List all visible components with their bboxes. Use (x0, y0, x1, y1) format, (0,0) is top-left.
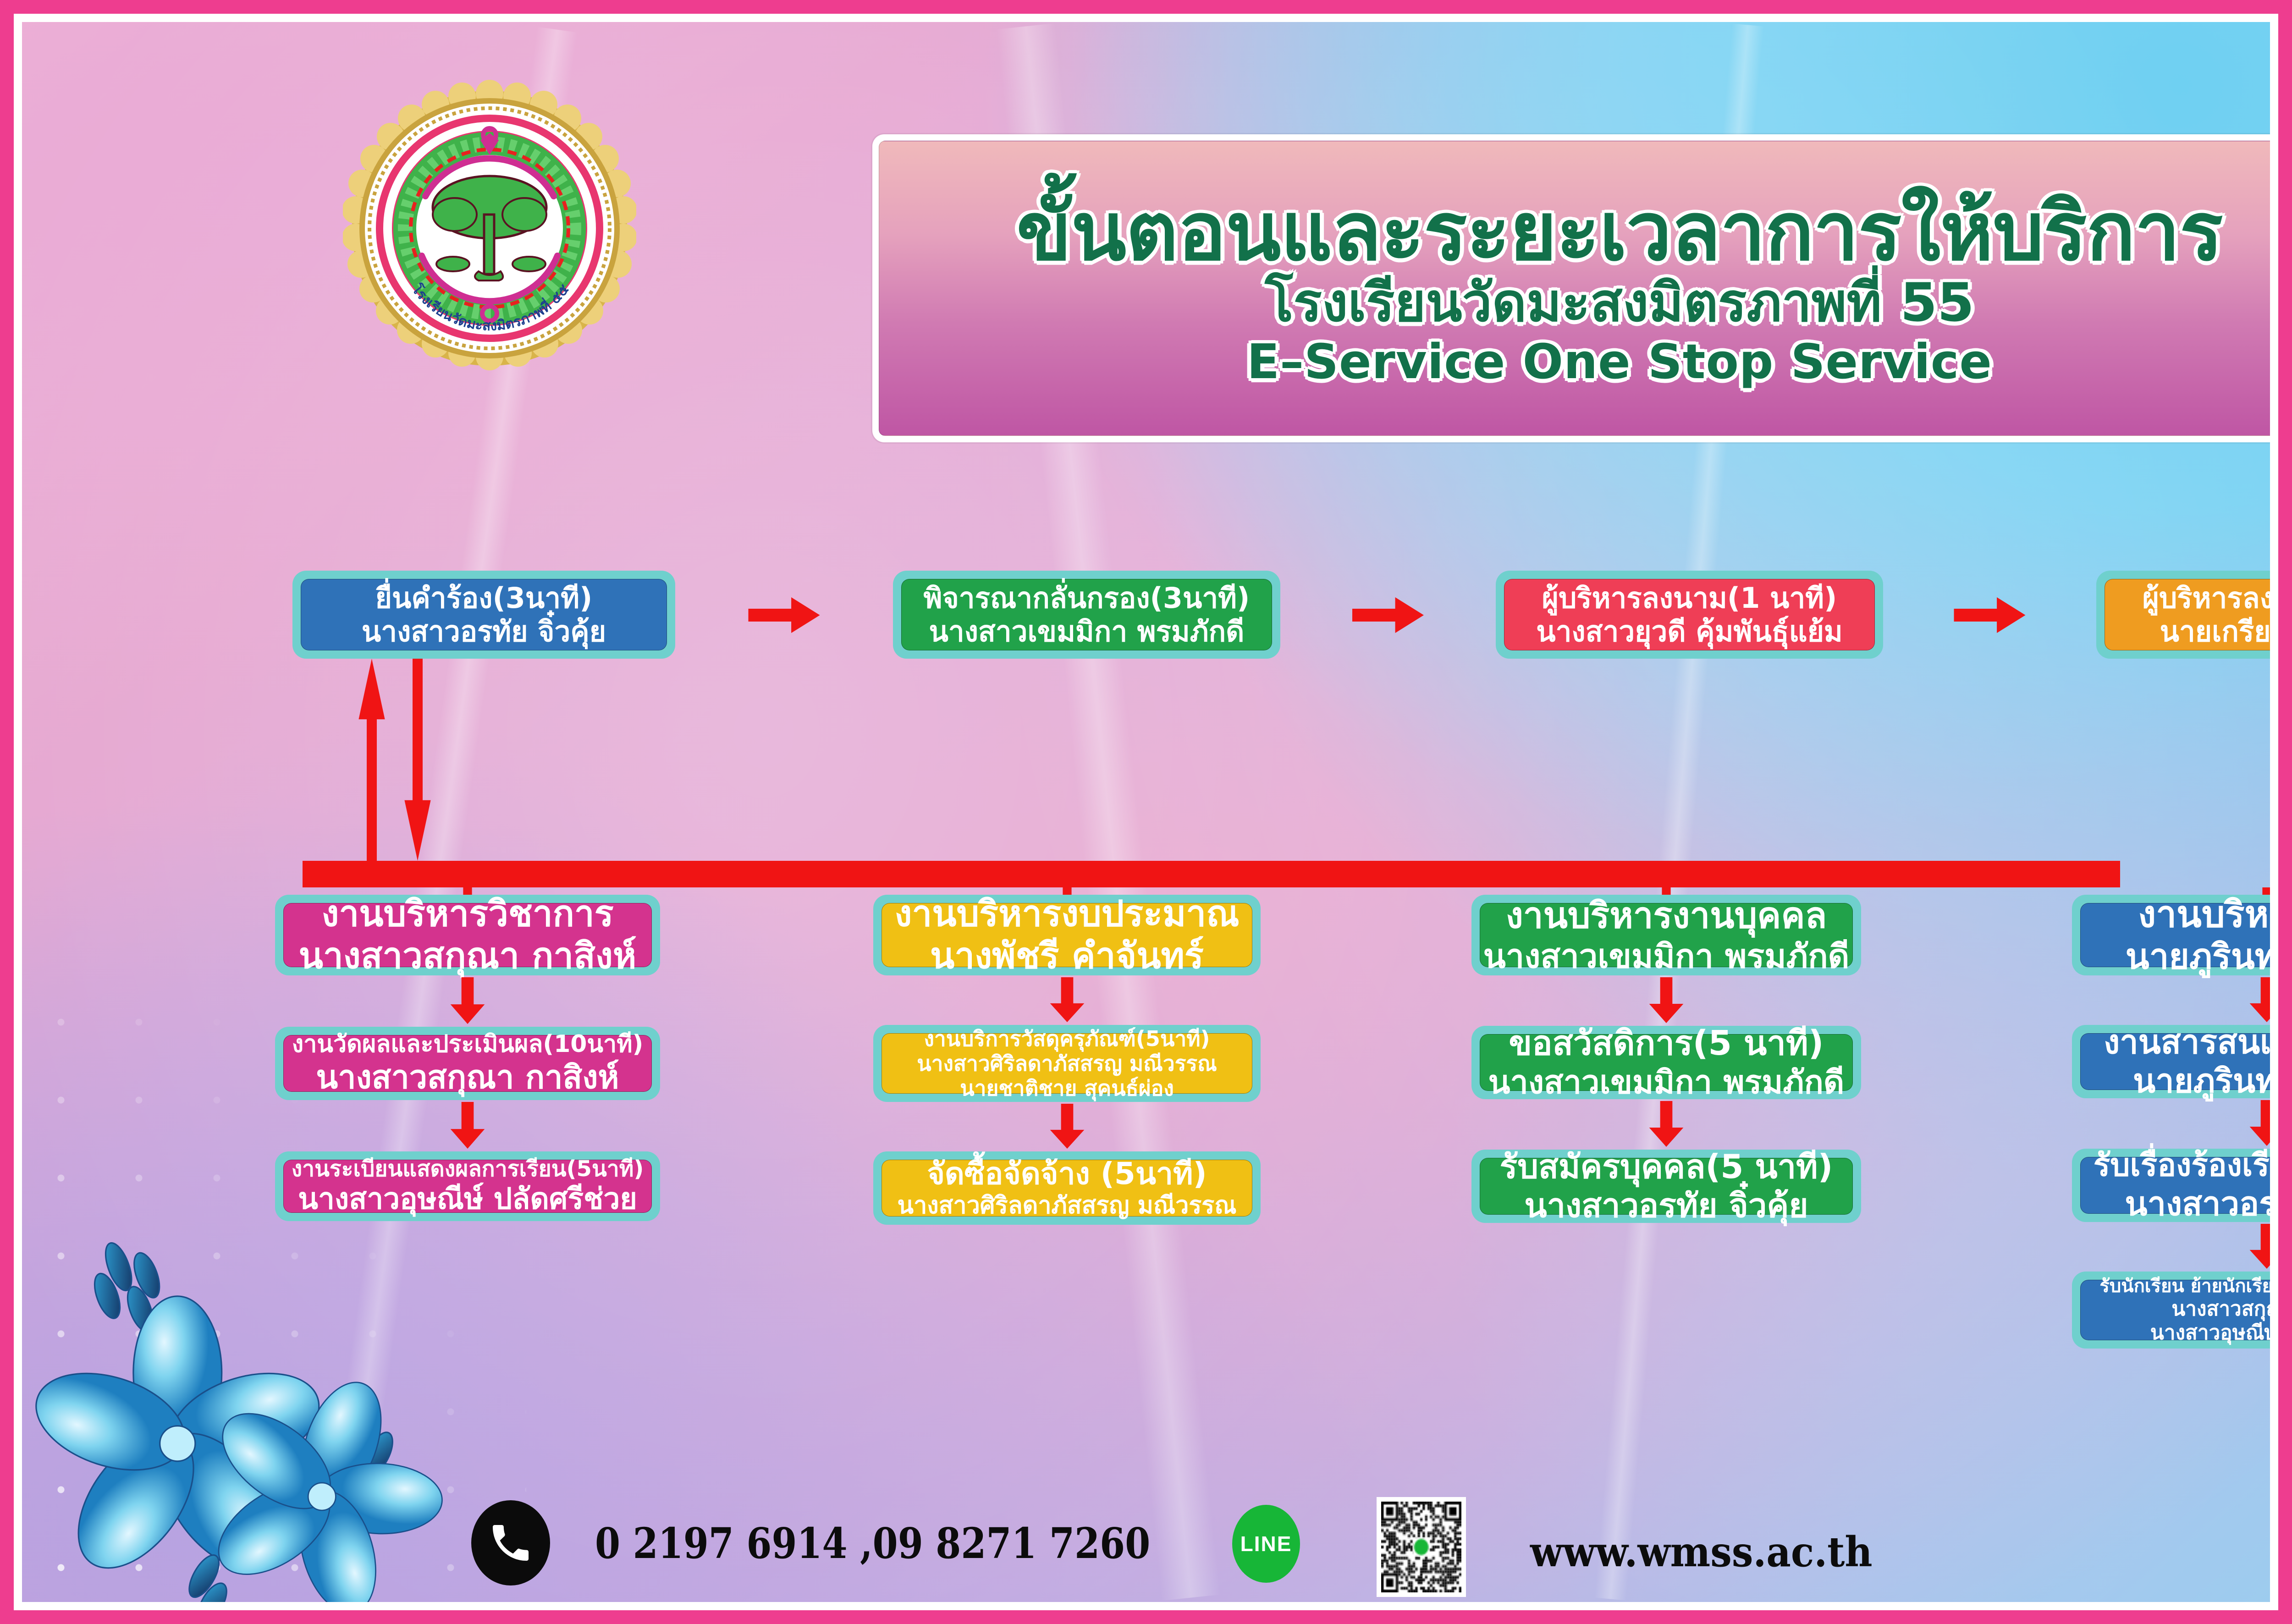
flow-arrow-down (1049, 1104, 1085, 1149)
box-text-line: นายภูรินทร์ พิงภูงา (2126, 936, 2270, 977)
column-academic-box-1[interactable]: งานบริหารวิชาการนางสาวสกุณา กาสิงห์ (275, 895, 660, 975)
column-general-box-1[interactable]: งานบริหารทั่วไปนายภูรินทร์ พิงภูงา (2072, 895, 2270, 975)
step-1-box[interactable]: ยื่นคำร้อง(3นาที)นางสาวอรทัย จิ๋วคุ้ย (292, 571, 675, 659)
school-seal-logo: โรงเรียนวัดมะสงมิตรภาพที่ ๕๕ (343, 77, 636, 380)
step-2-box[interactable]: พิจารณากลั่นกรอง(3นาที)นางสาวเขมมิกา พรม… (893, 571, 1280, 659)
flow-arrow-right (1289, 597, 1488, 633)
line-label: LINE (1240, 1531, 1292, 1556)
flow-arrow-down (402, 659, 433, 861)
box-text-line: รับนักเรียน ย้ายนักเรียนเข้า–ออก(10นาที) (2099, 1276, 2270, 1297)
box-text-line: พิจารณากลั่นกรอง(3นาที) (924, 581, 1250, 615)
banner-school-name: โรงเรียนวัดมะสงมิตรภาพที่ 55 (1265, 276, 1974, 330)
box-text-line: งานบริหารงบประมาณ (894, 893, 1239, 935)
box-text-line: งานวัดผลและประเมินผล(10นาที) (292, 1030, 643, 1058)
flow-arrow-down (1049, 977, 1085, 1022)
flow-arrow-down (1648, 977, 1685, 1023)
column-general-box-2[interactable]: งานสารสนเทศ(5นาที)นายภูรินทร์ พิงภูงา (2072, 1025, 2270, 1098)
poster-canvas: โรงเรียนวัดมะสงมิตรภาพที่ ๕๕ ขั้นตอนและร… (22, 22, 2270, 1602)
box-text-line: ขอสวัสดิการ(5 นาที) (1509, 1024, 1824, 1063)
column-budget-box-3[interactable]: จัดซื้อจัดจ้าง (5นาที)นางสาวศิริลดาภัสสร… (873, 1151, 1261, 1225)
column-academic-box-2[interactable]: งานวัดผลและประเมินผล(10นาที)นางสาวสกุณา … (275, 1027, 660, 1100)
column-general-box-3[interactable]: รับเรื่องร้องเรียน(10นาที)นางสาวอรทัย จิ… (2072, 1149, 2270, 1222)
flow-arrow-down (1648, 1101, 1685, 1147)
column-personnel-box-1[interactable]: งานบริหารงานบุคคลนางสาวเขมมิกา พรมภักดี (1471, 895, 1861, 975)
step-4-box[interactable]: ผู้บริหารลงนาม(1 นาที)นายเกรียงไกร รื่นเ… (2096, 571, 2270, 659)
flow-distribution-bar (303, 861, 2120, 887)
flow-arrow-right (1891, 597, 2088, 633)
box-text-line: รับเรื่องร้องเรียน(10นาที) (2094, 1147, 2270, 1184)
website-url: www.wmss.ac.th (1530, 1528, 1873, 1576)
box-text-line: งานระเบียนแสดงผลการเรียน(5นาที) (292, 1156, 644, 1182)
box-text-line: นางสาวศิริลดาภัสสรญ มณีวรรณ (917, 1051, 1217, 1076)
title-banner: ขั้นตอนและระยะเวลาการให้บริการ โรงเรียนว… (872, 134, 2270, 442)
banner-subtitle-english: E–Service One Stop Service (1247, 337, 1992, 386)
phone-icon (471, 1500, 550, 1585)
line-logo-icon: LINE (1232, 1505, 1300, 1583)
flow-arrow-down (449, 1102, 486, 1149)
box-text-line: นายเกรียงไกร รื่นเสือ (2160, 615, 2270, 648)
box-text-line: นางสาวเขมมิกา พรมภักดี (1488, 1063, 1845, 1101)
box-text-line: นางสาวอรทัย จิ๋วคุ้ย (1524, 1186, 1808, 1225)
column-budget-box-1[interactable]: งานบริหารงบประมาณนางพัชรี คำจันทร์ (873, 895, 1261, 975)
banner-title-thai: ขั้นตอนและระยะเวลาการให้บริการ (1016, 191, 2222, 273)
box-text-line: นางสาวศิริลดาภัสสรญ มณีวรรณ (898, 1192, 1237, 1220)
box-text-line: ยื่นคำร้อง(3นาที) (375, 581, 593, 615)
box-text-line: นายชาติชาย สุคนธ์ผ่อง (960, 1076, 1174, 1101)
box-text-line: งานบริการวัสดุครุภัณฑ์(5นาที) (924, 1026, 1210, 1051)
box-text-line: งานบริหารทั่วไป (2138, 893, 2270, 936)
box-text-line: นายภูรินทร์ พิงภูงา (2133, 1062, 2270, 1101)
poster-frame: โรงเรียนวัดมะสงมิตรภาพที่ ๕๕ ขั้นตอนและร… (0, 0, 2292, 1624)
column-personnel-box-2[interactable]: ขอสวัสดิการ(5 นาที)นางสาวเขมมิกา พรมภักด… (1471, 1026, 1861, 1099)
box-text-line: นางสาวอรทัย จิ๋วคุ้ย (2125, 1184, 2270, 1223)
box-text-line: รับสมัครบุคคล(5 นาที) (1500, 1147, 1833, 1186)
box-text-line: งานบริหารงานบุคคล (1506, 895, 1827, 937)
column-budget-box-2[interactable]: งานบริการวัสดุครุภัณฑ์(5นาที)นางสาวศิริล… (873, 1025, 1261, 1102)
box-text-line: นางสาวสกุณา กาสิงห์ (299, 935, 637, 977)
flow-arrow-up (357, 659, 387, 861)
step-3-box[interactable]: ผู้บริหารลงนาม(1 นาที)นางสาวยุวดี คุ้มพั… (1496, 571, 1883, 659)
box-text-line: ผู้บริหารลงนาม(1 นาที) (2143, 581, 2270, 615)
line-qr-code (1377, 1497, 1466, 1597)
box-text-line: นางสาวเขมมิกา พรมภักดี (929, 615, 1245, 648)
blue-flower-decoration (27, 1208, 476, 1602)
box-text-line: นางสาวสกุณา กาสิงห์ (316, 1058, 619, 1096)
box-text-line: นางสาวสกุณา กาสิงห์ (2171, 1297, 2270, 1321)
flow-arrow-down (2248, 977, 2270, 1022)
flow-arrow-down (449, 977, 486, 1024)
flow-arrow-down (2248, 1224, 2270, 1269)
box-text-line: จัดซื้อจัดจ้าง (5นาที) (927, 1156, 1207, 1192)
column-personnel-box-3[interactable]: รับสมัครบุคคล(5 นาที)นางสาวอรทัย จิ๋วคุ้… (1471, 1150, 1861, 1223)
box-text-line: งานบริหารวิชาการ (321, 893, 613, 935)
flow-arrow-right (683, 597, 885, 633)
box-text-line: นางสาวอุษณีษ์ ปลัดศรีช่วย (2150, 1321, 2270, 1345)
box-text-line: ผู้บริหารลงนาม(1 นาที) (1542, 581, 1837, 615)
box-text-line: นางสาวยุวดี คุ้มพันธุ์แย้ม (1536, 615, 1843, 648)
flow-arrow-down (2248, 1100, 2270, 1146)
column-general-box-4[interactable]: รับนักเรียน ย้ายนักเรียนเข้า–ออก(10นาที)… (2072, 1272, 2270, 1349)
box-text-line: นางสาวอรทัย จิ๋วคุ้ย (362, 615, 606, 648)
box-text-line: นางพัชรี คำจันทร์ (930, 935, 1204, 977)
phone-number: 0 2197 6914 ,09 8271 7260 (595, 1519, 1150, 1568)
box-text-line: งานสารสนเทศ(5นาที) (2104, 1023, 2270, 1062)
box-text-line: นางสาวเขมมิกา พรมภักดี (1483, 937, 1850, 976)
